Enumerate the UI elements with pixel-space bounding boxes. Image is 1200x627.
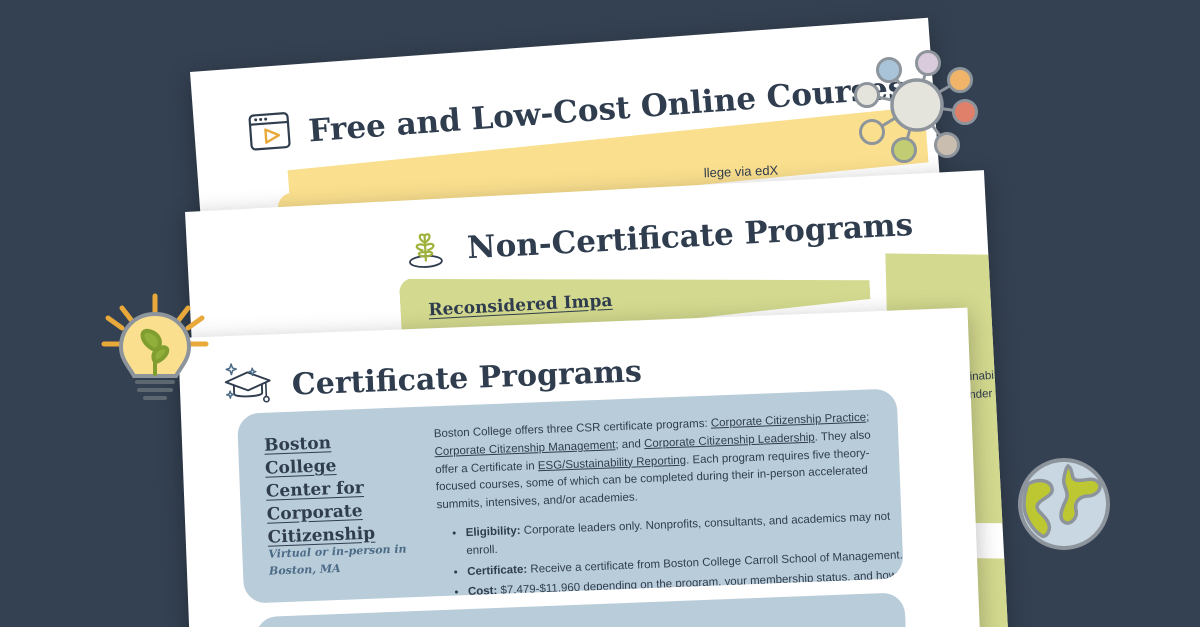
certificate-card-title: Boston College Center for Corporate Citi… xyxy=(264,429,408,549)
lightbulb-plant-icon xyxy=(92,288,218,419)
non-certificate-header: Non-Certificate Programs xyxy=(398,196,915,280)
cert-body-p1c: ; and xyxy=(615,438,644,451)
cert-bullet-certificate-label: Certificate: xyxy=(467,563,527,577)
cert-link-leadership[interactable]: Corporate Citizenship Leadership xyxy=(644,431,815,450)
certificate-card: Boston College Center for Corporate Citi… xyxy=(237,388,904,603)
certificate-card-subtitle: Virtual or in-person in Boston, MA xyxy=(268,541,419,580)
globe-icon xyxy=(1012,452,1116,561)
courses-banner-text: llege via edX xyxy=(704,162,779,180)
poster-canvas: Free and Low-Cost Online Courses llege v… xyxy=(0,0,1200,627)
page-title: Certificate Programs xyxy=(291,354,642,402)
page-title: Non-Certificate Programs xyxy=(466,206,914,265)
noncert-card-title: Reconsidered Impa xyxy=(428,290,613,323)
sprout-icon xyxy=(398,220,453,280)
cert-link-esg[interactable]: ESG/Sustainability Reporting xyxy=(538,454,687,472)
page-certificate: Certificate Programs Boston College Cent… xyxy=(178,308,980,627)
browser-play-icon xyxy=(245,107,295,161)
cert-bullet-cost-label: Cost: xyxy=(468,585,498,598)
cert-bullet-eligibility-label: Eligibility: xyxy=(465,525,520,539)
network-hub-icon xyxy=(852,40,982,175)
cert-link-practice[interactable]: Corporate Citizenship Practice xyxy=(711,412,867,430)
cert-link-management[interactable]: Corporate Citizenship Management xyxy=(434,439,615,458)
cert-body-p1b: ; xyxy=(866,412,870,424)
graduation-cap-icon xyxy=(219,358,277,415)
